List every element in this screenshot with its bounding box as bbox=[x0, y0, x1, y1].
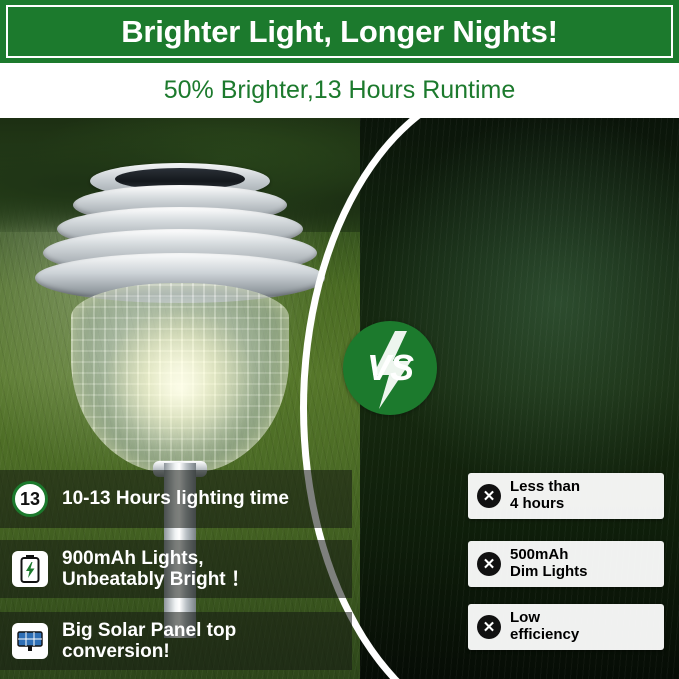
light-glow bbox=[105, 313, 255, 463]
vs-label: VS bbox=[367, 347, 413, 389]
con-row-runtime: ✕ Less than 4 hours bbox=[468, 473, 664, 519]
feature-row-battery: 900mAh Lights, Unbeatably Bright ！ bbox=[0, 540, 352, 598]
comparison-infographic: Brighter Light, Longer Nights! 50% Brigh… bbox=[0, 0, 679, 679]
con-row-efficiency: ✕ Low efficiency bbox=[468, 604, 664, 650]
feature-row-runtime: 13 10-13 Hours lighting time bbox=[0, 470, 352, 528]
feature-row-solar-panel: Big Solar Panel top conversion! bbox=[0, 612, 352, 670]
page-subtitle: 50% Brighter,13 Hours Runtime bbox=[0, 63, 679, 118]
feature-label-battery: 900mAh Lights, Unbeatably Bright ！ bbox=[62, 548, 250, 591]
solar-panel-icon bbox=[17, 630, 43, 652]
x-circle-icon: ✕ bbox=[477, 615, 501, 639]
page-title: Brighter Light, Longer Nights! bbox=[0, 0, 679, 63]
battery-badge bbox=[12, 551, 48, 587]
header-banner: Brighter Light, Longer Nights! bbox=[0, 0, 679, 63]
x-circle-icon: ✕ bbox=[477, 484, 501, 508]
x-circle-icon: ✕ bbox=[477, 552, 501, 576]
con-label-battery: 500mAh Dim Lights bbox=[510, 547, 588, 581]
battery-icon bbox=[20, 555, 40, 583]
number-13-badge: 13 bbox=[12, 481, 48, 517]
con-row-battery: ✕ 500mAh Dim Lights bbox=[468, 541, 664, 587]
solar-panel-badge bbox=[12, 623, 48, 659]
feature-label-solar-panel: Big Solar Panel top conversion! bbox=[62, 620, 236, 663]
comparison-photo: VS 13 10-13 Hours lighting time 900mAh L… bbox=[0, 118, 679, 679]
con-label-runtime: Less than 4 hours bbox=[510, 479, 580, 513]
vs-badge: VS bbox=[343, 321, 437, 415]
feature-label-runtime: 10-13 Hours lighting time bbox=[62, 488, 289, 509]
con-label-efficiency: Low efficiency bbox=[510, 610, 579, 644]
